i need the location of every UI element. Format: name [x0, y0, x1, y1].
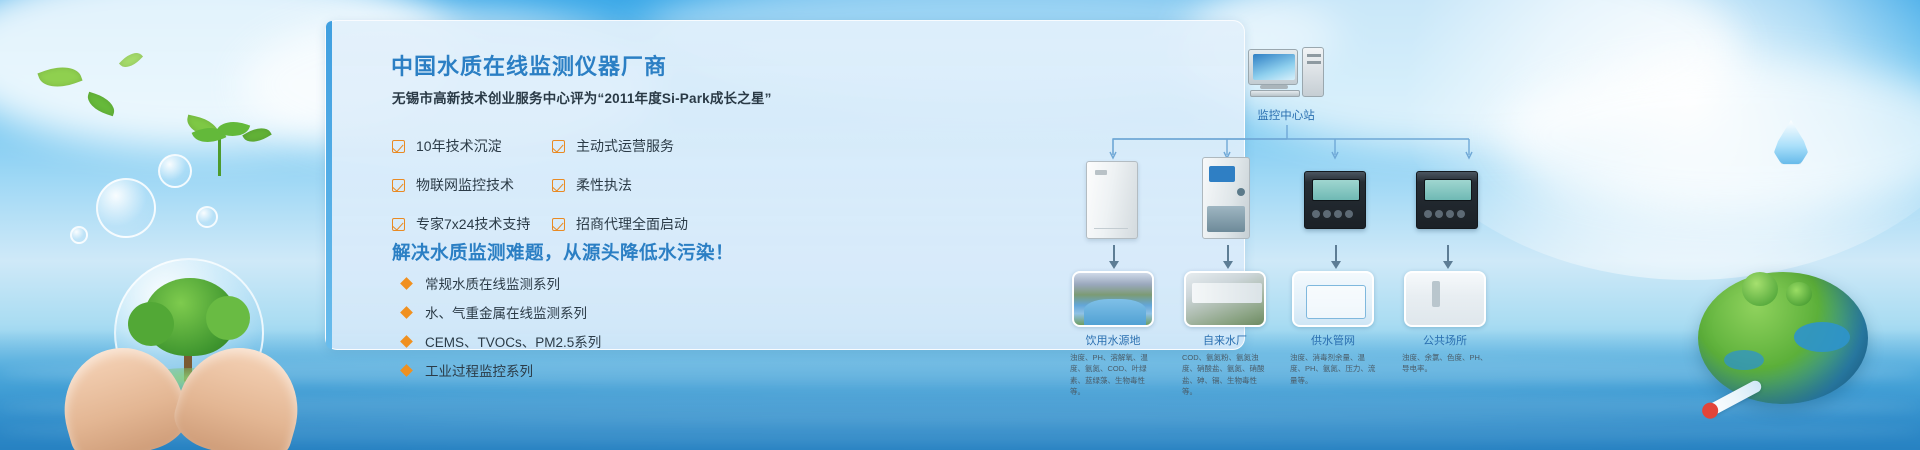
scene-title: 饮用水源地	[1072, 332, 1154, 348]
content-card: 中国水质在线监测仪器厂商 无锡市高新技术创业服务中心评为“2011年度Si-Pa…	[325, 20, 1245, 350]
leaf-icon	[37, 60, 82, 94]
section-heading: 解决水质监测难题，从源头降低水污染！	[392, 239, 734, 265]
scene-image-river	[1072, 271, 1154, 327]
scene-image-tap	[1404, 271, 1486, 327]
feature-label: 专家7x24技术支持	[416, 214, 530, 234]
list-item[interactable]: 常规水质在线监测系列	[402, 273, 601, 293]
arrow-down-icon	[1442, 245, 1454, 271]
arrow-down-icon	[1330, 245, 1342, 271]
bubble-decor	[70, 226, 88, 244]
series-label: 水、气重金属在线监测系列	[425, 302, 587, 322]
list-item[interactable]: 招商代理全面启动	[552, 211, 882, 237]
green-earth-illustration	[1698, 264, 1868, 414]
diamond-bullet-icon	[400, 364, 413, 377]
feature-label: 10年技术沉淀	[416, 136, 502, 156]
feature-label: 柔性执法	[576, 175, 632, 195]
device-controller-narrow[interactable]	[1414, 155, 1480, 241]
series-label: 工业过程监控系列	[425, 360, 533, 380]
page-subtitle: 无锡市高新技术创业服务中心评为“2011年度Si-Park成长之星”	[392, 87, 772, 107]
system-diagram: 监控中心站	[1066, 43, 1516, 358]
diamond-bullet-icon	[400, 335, 413, 348]
product-series-list: 常规水质在线监测系列 水、气重金属在线监测系列 CEMS、TVOCs、PM2.5…	[402, 273, 601, 389]
diamond-bullet-icon	[400, 306, 413, 319]
scene-description: 浊度、PH、溶解氧、温度、氨氮、COD、叶绿素、蓝绿藻、生物毒性等。	[1070, 352, 1156, 397]
bubble-decor	[96, 178, 156, 238]
device-cabinet-analyzer[interactable]	[1080, 155, 1146, 241]
diamond-bullet-icon	[400, 277, 413, 290]
scene-description: 浊度、消毒剂余量、温度、PH、氨氮、压力、流量等。	[1290, 352, 1376, 386]
list-item[interactable]: 主动式运营服务	[552, 133, 882, 159]
checkbox-icon	[392, 140, 405, 153]
list-item[interactable]: 水、气重金属在线监测系列	[402, 302, 601, 322]
scene-card[interactable]: 公共场所 浊度、余氯、色度、PH、导电率。	[1404, 271, 1486, 375]
device-rack-analyzer[interactable]	[1194, 155, 1260, 241]
scene-title: 供水管网	[1292, 332, 1374, 348]
scene-image-pipeline	[1292, 271, 1374, 327]
scene-card[interactable]: 自来水厂 COD、氨氮粉、氨氮浊度、硝酸盐、氨氮、硝酸盐、砷、镉、生物毒性等。	[1184, 271, 1266, 397]
scene-title: 自来水厂	[1184, 332, 1266, 348]
arrow-down-icon	[1108, 245, 1120, 271]
scene-description: COD、氨氮粉、氨氮浊度、硝酸盐、氨氮、硝酸盐、砷、镉、生物毒性等。	[1182, 352, 1268, 397]
checkbox-icon	[552, 140, 565, 153]
list-item[interactable]: 柔性执法	[552, 172, 882, 198]
hands-holding-tree-illustration	[58, 250, 318, 450]
device-row	[1066, 155, 1516, 241]
scene-description: 浊度、余氯、色度、PH、导电率。	[1402, 352, 1488, 375]
series-label: 常规水质在线监测系列	[425, 273, 560, 293]
list-item[interactable]: CEMS、TVOCs、PM2.5系列	[402, 331, 601, 351]
feature-list-right: 主动式运营服务 柔性执法 招商代理全面启动	[552, 133, 882, 250]
scene-card[interactable]: 供水管网 浊度、消毒剂余量、温度、PH、氨氮、压力、流量等。	[1292, 271, 1374, 386]
scene-title: 公共场所	[1404, 332, 1486, 348]
connector-lines	[1066, 43, 1516, 163]
bubble-decor	[196, 206, 218, 228]
leaf-icon	[84, 92, 117, 116]
checkbox-icon	[552, 179, 565, 192]
series-label: CEMS、TVOCs、PM2.5系列	[425, 331, 601, 351]
feature-label: 主动式运营服务	[576, 136, 674, 156]
application-scene-row: 饮用水源地 浊度、PH、溶解氧、温度、氨氮、COD、叶绿素、蓝绿藻、生物毒性等。…	[1066, 271, 1516, 357]
checkbox-icon	[552, 218, 565, 231]
sprout-icon	[188, 118, 252, 178]
leaf-icon	[119, 48, 143, 72]
arrow-down-icon	[1222, 245, 1234, 271]
feature-label: 物联网监控技术	[416, 175, 514, 195]
checkbox-icon	[392, 179, 405, 192]
page-title: 中国水质在线监测仪器厂商	[391, 49, 667, 81]
scene-card[interactable]: 饮用水源地 浊度、PH、溶解氧、温度、氨氮、COD、叶绿素、蓝绿藻、生物毒性等。	[1072, 271, 1154, 397]
bubble-decor	[158, 154, 192, 188]
feature-label: 招商代理全面启动	[576, 214, 688, 234]
checkbox-icon	[392, 218, 405, 231]
list-item[interactable]: 工业过程监控系列	[402, 360, 601, 380]
scene-image-waterworks	[1184, 271, 1266, 327]
device-controller-wide[interactable]	[1302, 155, 1368, 241]
